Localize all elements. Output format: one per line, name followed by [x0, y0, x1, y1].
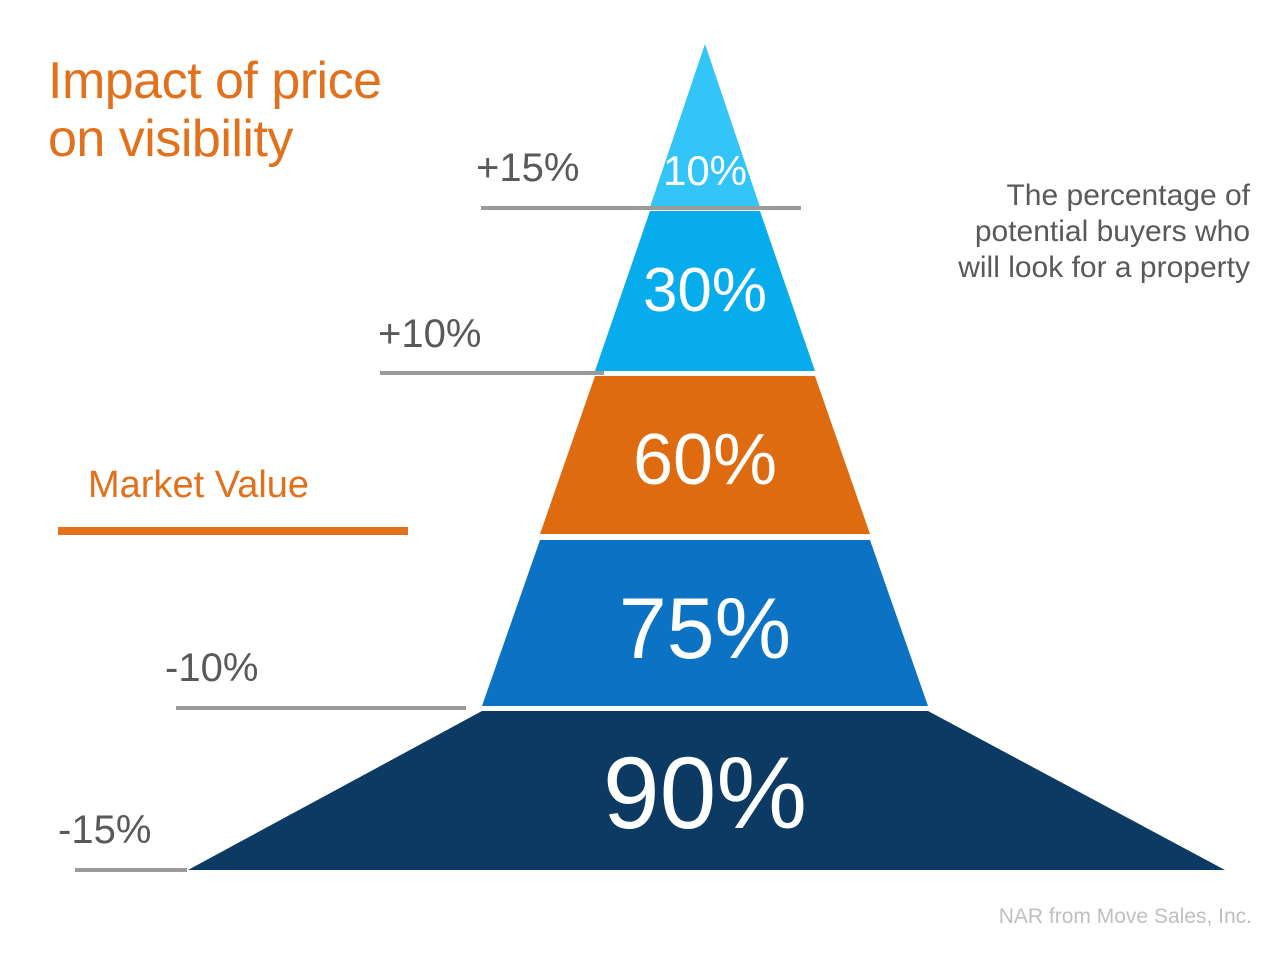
band-value-30: 30% [643, 260, 767, 322]
marker-label-plus-15: +15% [476, 148, 579, 188]
attribution-text: NAR from Move Sales, Inc. [999, 905, 1252, 929]
marker-rule-plus-15 [481, 206, 801, 210]
band-value-75: 75% [619, 586, 791, 672]
marker-label-plus-10: +10% [378, 314, 481, 354]
marker-rule-minus-10 [176, 706, 466, 710]
marker-label-market-value: Market Value [88, 466, 309, 504]
infographic-canvas: Impact of price on visibility The percen… [0, 0, 1280, 960]
chart-caption: The percentage of potential buyers who w… [800, 178, 1250, 286]
band-value-60: 60% [633, 424, 777, 496]
band-value-90: 90% [603, 742, 807, 844]
page-title: Impact of price on visibility [48, 52, 518, 168]
marker-rule-minus-15 [75, 868, 187, 872]
marker-label-minus-15: -15% [58, 810, 151, 850]
marker-rule-plus-10 [380, 371, 604, 375]
marker-rule-market-value [58, 527, 408, 535]
band-value-10: 10% [663, 150, 747, 192]
marker-label-minus-10: -10% [165, 648, 258, 688]
